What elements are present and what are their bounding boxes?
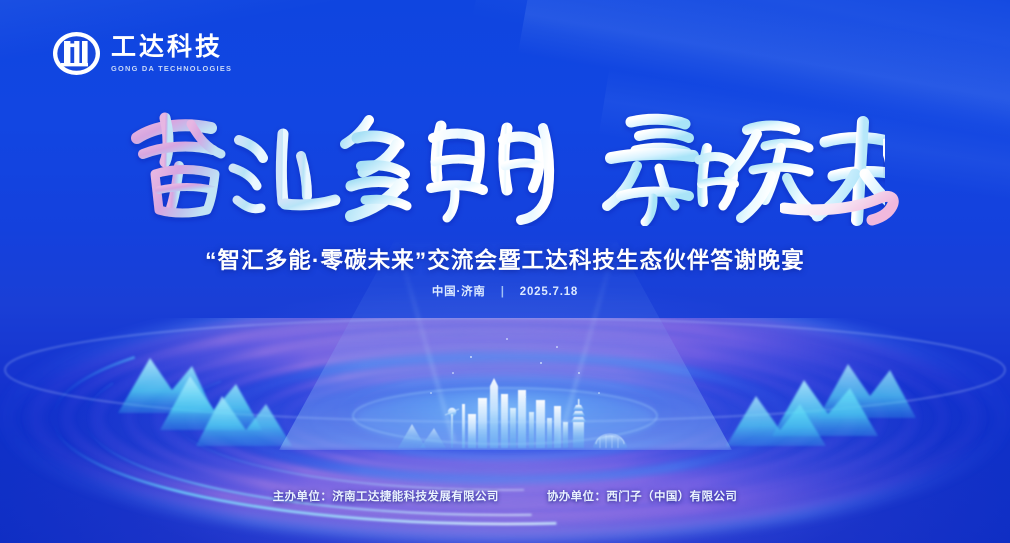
stadium-dome-icon (593, 434, 627, 448)
calligraphy-char-duo (345, 120, 407, 216)
event-subtitle: “智汇多能·零碳未来”交流会暨工达科技生态伙伴答谢晚宴 (0, 243, 1010, 275)
calligraphy-char-neng (431, 126, 549, 220)
calligraphy-char-zhi (137, 118, 221, 213)
event-date: 2025.7.18 (520, 286, 578, 298)
cohost-organization: 协办单位：西门子（中国）有限公司 (547, 488, 737, 504)
sponsors-footer: 主办单位：济南工达捷能科技发展有限公司 协办单位：西门子（中国）有限公司 (0, 488, 1010, 504)
gongda-circle-monogram-icon (52, 30, 101, 77)
brand-name-cn: 工达科技 (111, 34, 232, 60)
city-skyline-icon (390, 368, 630, 454)
brand-logo[interactable]: 工达科技 GONG DA TECHNOLOGIES (52, 30, 232, 77)
event-meta: 中国·济南 | 2025.7.18 (0, 283, 1010, 299)
calligraphy-swoosh-icon (780, 168, 910, 230)
calligraphy-char-hui (233, 134, 335, 209)
host-organization: 主办单位：济南工达捷能科技发展有限公司 (273, 488, 499, 504)
calligraphy-char-ling (607, 119, 693, 222)
meta-separator: | (501, 286, 505, 298)
brand-name-en: GONG DA TECHNOLOGIES (111, 64, 232, 73)
pagoda-icon (571, 399, 586, 448)
event-location: 中国·济南 (432, 286, 486, 298)
poster-canvas: 工达科技 GONG DA TECHNOLOGIES (0, 0, 1010, 543)
